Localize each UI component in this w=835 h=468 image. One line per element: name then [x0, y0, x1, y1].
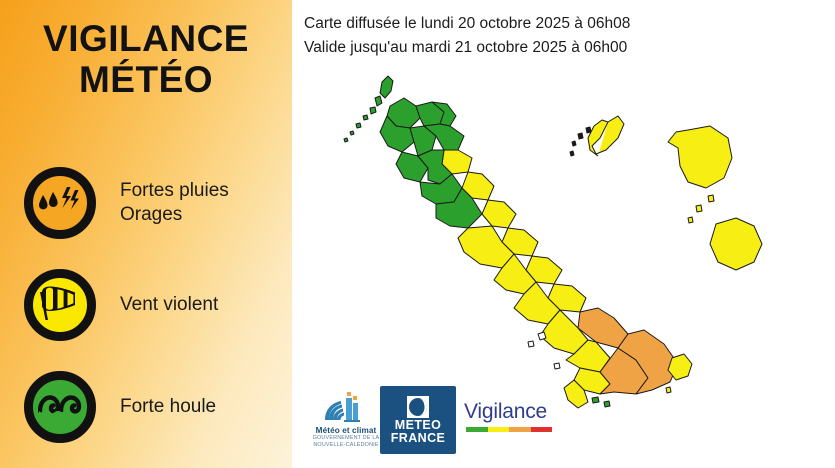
legend-label-line-1: Vent violent: [120, 293, 218, 317]
title-line-1: VIGILANCE: [0, 18, 292, 59]
vigilance-label: Vigilance: [464, 400, 574, 424]
left-panel: VIGILANCE MÉTÉO Fortes: [0, 0, 292, 468]
swell-wave-icon: [24, 371, 96, 443]
map-area: Carte diffusée le lundi 20 octobre 2025 …: [292, 0, 835, 468]
vigilance-color-bar: [466, 427, 552, 432]
vigilance-bar-green: [466, 427, 488, 432]
legend-label-line-1: Fortes pluies: [120, 179, 229, 203]
legend-item-fortes-pluies: Fortes pluies Orages: [24, 152, 292, 254]
legend-label-forte-houle: Forte houle: [120, 395, 216, 419]
rain-storm-icon: [24, 167, 96, 239]
issued-text: Carte diffusée le lundi 20 octobre 2025 …: [304, 12, 630, 36]
logo-meteo-france[interactable]: METEO FRANCE: [380, 386, 456, 454]
legend-label-line-2: Orages: [120, 203, 229, 227]
logo-vigilance[interactable]: Vigilance: [464, 400, 574, 432]
page-title: VIGILANCE MÉTÉO: [0, 18, 292, 101]
windsock-icon: [24, 269, 96, 341]
map-region-lifou[interactable]: [668, 126, 732, 188]
vigilance-bar-red: [531, 427, 553, 432]
vigilance-map-screen: VIGILANCE MÉTÉO Fortes: [0, 0, 835, 468]
vigilance-bar-orange: [509, 427, 531, 432]
title-line-2: MÉTÉO: [0, 59, 292, 100]
legend-label-fortes-pluies: Fortes pluies Orages: [120, 179, 229, 228]
map-islets-mare-north: [688, 195, 714, 223]
map-region-ponerihouen[interactable]: [482, 200, 516, 228]
footer-logos: Météo et climat GOUVERNEMENT DE LA NOUVE…: [292, 384, 835, 464]
legend-label-line-1: Forte houle: [120, 395, 216, 419]
legend-label-vent-violent: Vent violent: [120, 293, 218, 317]
meteo-france-line-2: FRANCE: [391, 432, 445, 445]
vigilance-bar-yellow: [488, 427, 510, 432]
legend: Fortes pluies Orages: [24, 152, 292, 458]
map-region-ouvea[interactable]: [570, 116, 624, 156]
map-region-mare[interactable]: [710, 218, 762, 270]
legend-item-forte-houle: Forte houle: [24, 356, 292, 458]
legend-item-vent-violent: Vent violent: [24, 254, 292, 356]
map-region-bourail[interactable]: [458, 226, 514, 268]
new-caledonia-vigilance-map: [292, 46, 835, 418]
meteo-france-emblem-icon: [406, 395, 430, 419]
